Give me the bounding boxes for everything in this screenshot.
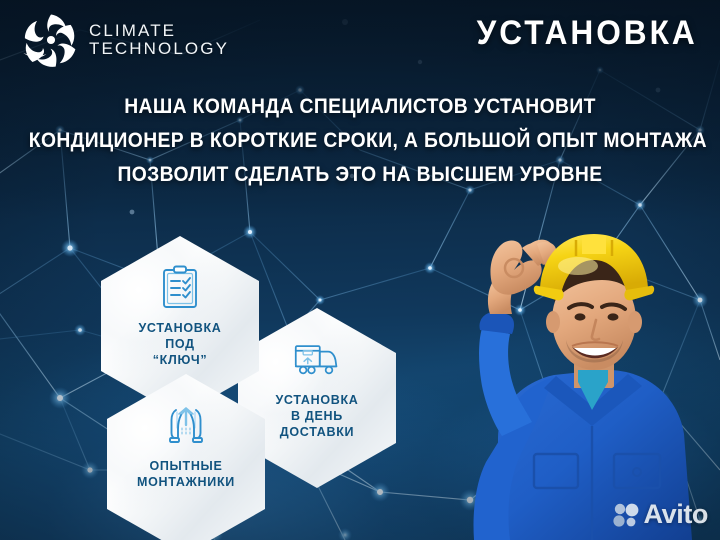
headline-text: НАША КОМАНДА СПЕЦИАЛИСТОВ УСТАНОВИТ КОНД… [29, 90, 691, 192]
fan-swirl-logo-icon [22, 10, 80, 70]
feature-label-sameday: УСТАНОВКА В ДЕНЬ ДОСТАВКИ [265, 392, 368, 440]
brand-logo[interactable]: CLIMATE TECHNOLOGY [22, 10, 229, 70]
clipboard-checklist-icon [156, 263, 204, 311]
feature-label-line2: В ДЕНЬ [275, 408, 358, 424]
feature-label-line3: ДОСТАВКИ [275, 424, 358, 440]
headline-line-3: ПОЗВОЛИТ СДЕЛАТЬ ЭТО НА ВЫСШЕМ УРОВНЕ [29, 158, 691, 192]
headline-line-2: КОНДИЦИОНЕР В КОРОТКИЕ СРОКИ, А БОЛЬШОЙ … [29, 124, 691, 158]
feature-label-turnkey: УСТАНОВКА ПОД “КЛЮЧ” [128, 320, 231, 368]
feature-label-line1: ОПЫТНЫЕ [137, 458, 235, 474]
feature-label-line1: УСТАНОВКА [138, 320, 221, 336]
avito-watermark: Avito [613, 499, 709, 530]
feature-label-line2: ПОД [138, 336, 221, 352]
feature-label-line2: МОНТАЖНИКИ [137, 474, 235, 490]
headline-line-1: НАША КОМАНДА СПЕЦИАЛИСТОВ УСТАНОВИТ [29, 90, 691, 124]
feature-label-experienced: ОПЫТНЫЕ МОНТАЖНИКИ [127, 458, 245, 490]
delivery-truck-icon [293, 335, 341, 383]
page-title: УСТАНОВКА [477, 14, 698, 53]
brand-name-line2: TECHNOLOGY [89, 40, 229, 58]
avito-label: Avito [644, 499, 709, 530]
brand-name: CLIMATE TECHNOLOGY [89, 22, 229, 58]
worker-ok-gesture-photo [406, 210, 720, 540]
hands-holding-unit-icon [162, 401, 210, 449]
brand-name-line1: CLIMATE [89, 22, 229, 40]
feature-label-line3: “КЛЮЧ” [138, 352, 221, 368]
avito-dots-icon [613, 502, 639, 528]
feature-label-line1: УСТАНОВКА [275, 392, 358, 408]
promo-poster: CLIMATE TECHNOLOGY УСТАНОВКА НАША КОМАНД… [0, 0, 720, 540]
